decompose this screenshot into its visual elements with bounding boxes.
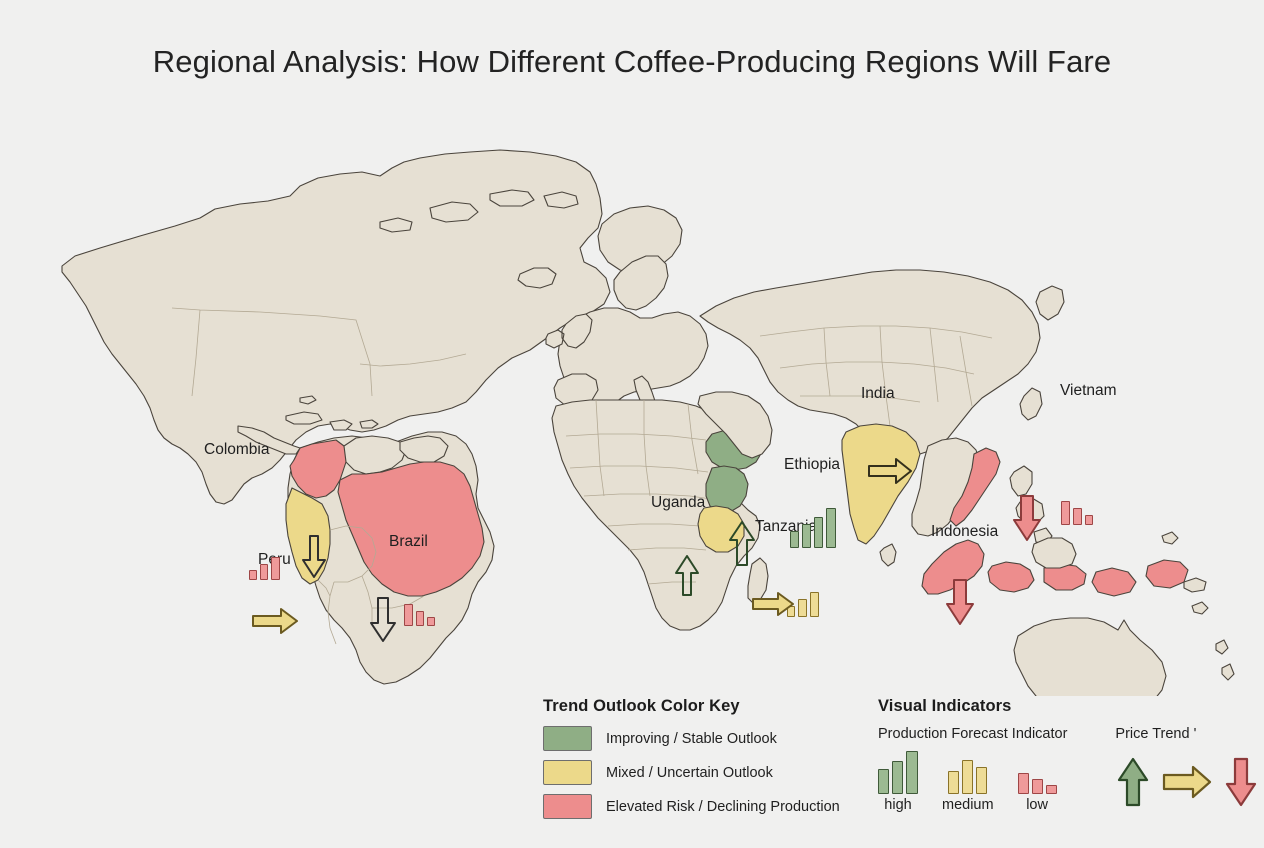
map-label-brazil: Brazil [389, 533, 428, 551]
indicator-caption-high: high [884, 797, 911, 813]
legend-color-key: Trend Outlook Color Key Improving / Stab… [543, 697, 840, 828]
production-forecast-group: Production Forecast Indicator high mediu… [878, 726, 1067, 813]
legend-item-elevated-risk: Elevated Risk / Declining Production [543, 794, 840, 819]
price-trend-arrow-vietnam [1011, 494, 1043, 542]
swatch-yellow [543, 760, 592, 785]
production-bars-medium [948, 750, 987, 794]
price-trend-group: Price Trend ' [1115, 726, 1259, 808]
swatch-green [543, 726, 592, 751]
indicator-medium: medium [942, 750, 994, 813]
map-label-uganda: Uganda [651, 494, 705, 512]
region-kamchatka [1036, 286, 1064, 320]
region-borneo [1032, 538, 1076, 568]
production-bars-brazil [404, 604, 435, 626]
map-label-vietnam: Vietnam [1060, 382, 1117, 400]
legend-item-improving: Improving / Stable Outlook [543, 726, 840, 751]
legend-visual-indicators-heading: Visual Indicators [878, 697, 1259, 716]
price-trend-legend-arrow-down [1223, 756, 1259, 808]
legend-label-improving: Improving / Stable Outlook [606, 731, 777, 747]
price-trend-arrow-ethiopia [727, 519, 757, 567]
region-japan [1020, 388, 1042, 420]
legend-color-key-heading: Trend Outlook Color Key [543, 697, 840, 716]
map-label-colombia: Colombia [204, 441, 269, 459]
indicator-caption-medium: medium [942, 797, 994, 813]
map-label-ethiopia: Ethiopia [784, 456, 840, 474]
map-label-india: India [861, 385, 895, 403]
swatch-red [543, 794, 592, 819]
legend-label-mixed: Mixed / Uncertain Outlook [606, 765, 773, 781]
production-bars-high [878, 750, 918, 794]
production-bars-ethiopia [790, 508, 836, 548]
legend-visual-indicators: Visual Indicators Production Forecast In… [878, 697, 1259, 813]
map-label-indonesia: Indonesia [931, 523, 998, 541]
infographic-root: Regional Analysis: How Different Coffee-… [0, 0, 1264, 848]
region-australia [1014, 618, 1166, 696]
legend-label-elevated-risk: Elevated Risk / Declining Production [606, 799, 840, 815]
price-trend-arrow-peru [251, 606, 299, 636]
price-trend-arrow-brazil [368, 596, 398, 644]
production-bars-colombia [249, 556, 280, 580]
price-trend-arrow-tanzania [751, 590, 795, 618]
price-trend-legend-arrow-up [1115, 756, 1151, 808]
world-map-container: Colombia Peru Brazil Ethiopia Uganda Tan… [0, 96, 1264, 696]
region-pacific-islands [1162, 532, 1234, 680]
price-trend-arrow-india [867, 456, 913, 486]
price-trend-arrow-indonesia [944, 578, 976, 626]
indicator-caption-low: low [1026, 797, 1048, 813]
price-trend-subheading: Price Trend ' [1115, 726, 1259, 742]
production-bars-vietnam [1061, 501, 1093, 525]
region-sri-lanka [880, 544, 896, 566]
legend-item-mixed: Mixed / Uncertain Outlook [543, 760, 840, 785]
price-trend-arrow-uganda [673, 553, 701, 597]
production-forecast-subheading: Production Forecast Indicator [878, 726, 1067, 742]
price-trend-arrow-colombia [300, 534, 328, 580]
page-title: Regional Analysis: How Different Coffee-… [0, 44, 1264, 80]
price-trend-legend-arrow-right [1161, 764, 1213, 800]
indicator-low: low [1018, 750, 1057, 813]
production-bars-low [1018, 750, 1057, 794]
indicator-high: high [878, 750, 918, 813]
